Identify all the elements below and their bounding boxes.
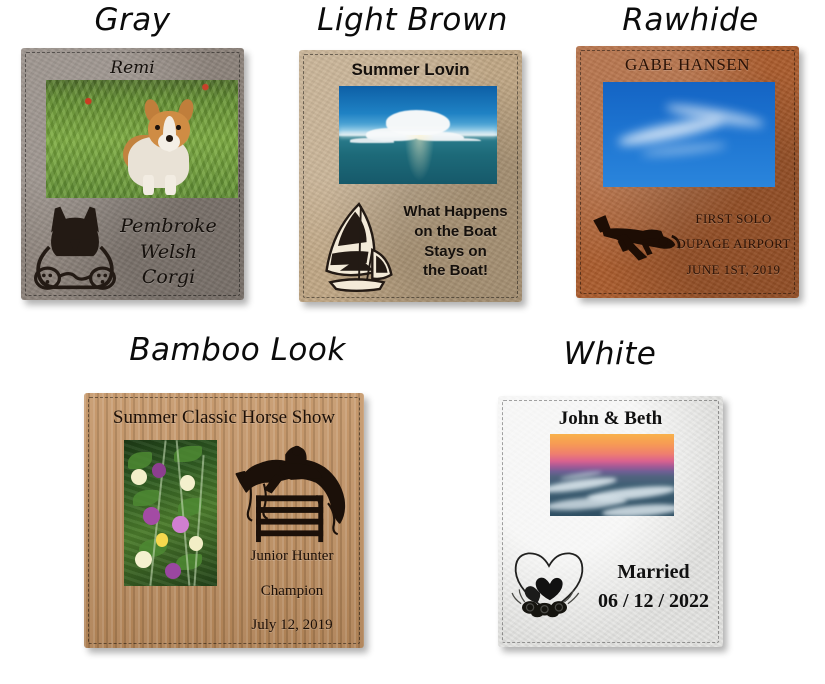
airplane-icon: [588, 206, 684, 268]
photo-sunset-over-clouds: [550, 434, 674, 516]
engraved-top-text-bamboo: Summer Classic Horse Show: [84, 407, 364, 429]
heart-with-roses-icon: [510, 548, 588, 620]
photo-wispy-blue-sky: [603, 82, 775, 187]
engraved-body-text-white: Married 06 / 12 / 2022: [588, 558, 719, 616]
engraved-body-text-light-brown: What Happens on the Boat Stays on the Bo…: [395, 202, 516, 281]
sun-glint: [405, 135, 433, 180]
photo-window-bamboo: [124, 440, 217, 586]
frame-rawhide[interactable]: GABE HANSEN: [576, 46, 799, 298]
sailboat-icon: [317, 198, 399, 294]
swatch-title-white: White: [460, 336, 760, 372]
engraved-top-text-white: John & Beth: [498, 408, 723, 430]
cirrus-wisp: [641, 141, 728, 159]
engraved-top-text-gray: Remi: [21, 58, 244, 78]
swatch-title-light-brown: Light Brown: [280, 2, 545, 38]
corgi-photo-subject: [123, 111, 207, 194]
frame-gray[interactable]: Remi: [21, 48, 244, 300]
photo-pansy-garden: [124, 440, 217, 586]
horse-jumper-icon: [234, 439, 352, 544]
swatch-gray: Gray Remi: [0, 0, 265, 310]
engraved-top-text-light-brown: Summer Lovin: [299, 60, 522, 80]
photo-window-rawhide: [603, 82, 775, 187]
swatch-title-rawhide: Rawhide: [556, 2, 825, 38]
photo-window-light-brown: [339, 86, 497, 184]
engraved-body-text-bamboo: Junior Hunter Champion July 12, 2019: [226, 548, 358, 634]
frame-white[interactable]: John & Beth: [498, 396, 723, 647]
photo-ocean-cumulus-cloud: [339, 86, 497, 184]
swatch-rawhide: Rawhide GABE HANSEN: [556, 0, 825, 310]
frame-bamboo-look[interactable]: Summer Classic Horse Show: [84, 393, 364, 648]
engraved-top-text-rawhide: GABE HANSEN: [576, 55, 799, 75]
engraved-body-text-gray: Pembroke Welsh Corgi: [99, 214, 238, 291]
swatch-bamboo-look: Bamboo Look Summer Classic Horse Show: [60, 330, 415, 684]
photo-window-white: [550, 434, 674, 516]
photo-corgi-on-lawn: [46, 80, 238, 198]
frame-light-brown[interactable]: Summer Lovin: [299, 50, 522, 302]
swatch-white: White John & Beth: [460, 330, 760, 684]
swatch-title-gray: Gray: [0, 2, 265, 38]
swatch-title-bamboo-look: Bamboo Look: [60, 332, 415, 368]
swatch-light-brown: Light Brown Summer Lovin: [280, 0, 545, 310]
photo-window-gray: [46, 80, 238, 198]
engraved-body-text-rawhide: FIRST SOLO DUPAGE AIRPORT JUNE 1ST, 2019: [672, 206, 795, 282]
frame-color-swatch-board: Gray Remi: [0, 0, 825, 684]
